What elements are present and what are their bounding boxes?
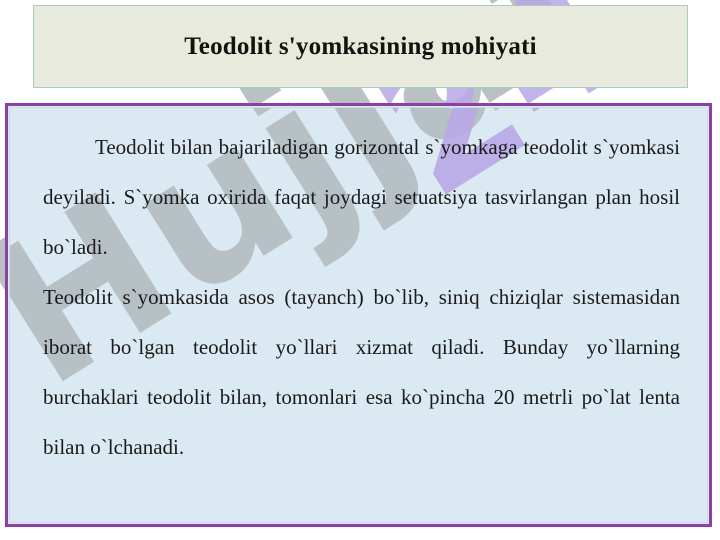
slide-title: Teodolit s'yomkasining mohiyati	[184, 32, 537, 62]
title-placeholder: Teodolit s'yomkasining mohiyati	[33, 5, 688, 88]
content-paragraph-2: Teodolit s`yomkasida asos (tayanch) bo`l…	[43, 272, 680, 472]
content-inner-frame: Hujjat 24 Teodolit bilan bajariladigan g…	[9, 107, 708, 523]
content-text-block: Teodolit bilan bajariladigan gorizontal …	[43, 122, 680, 472]
content-paragraph-1: Teodolit bilan bajariladigan gorizontal …	[43, 122, 680, 272]
slide-canvas: Hujjat 24 Teodolit s'yomkasining mohiyat…	[0, 0, 720, 540]
content-placeholder: Hujjat 24 Teodolit bilan bajariladigan g…	[5, 103, 712, 527]
